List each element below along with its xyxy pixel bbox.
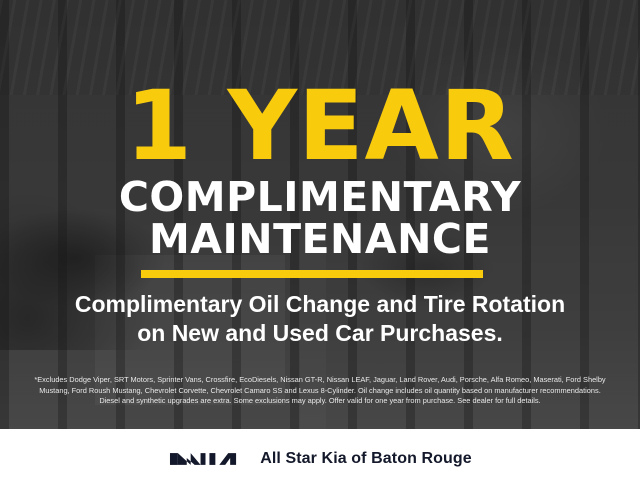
disclaimer-line-1: *Excludes Dodge Viper, SRT Motors, Sprin… <box>14 375 626 386</box>
headline-secondary: COMPLIMENTARY MAINTENANCE <box>0 176 640 260</box>
kia-logo <box>168 448 242 470</box>
disclaimer-text: *Excludes Dodge Viper, SRT Motors, Sprin… <box>14 375 626 407</box>
disclaimer-line-2: Mustang, Ford Roush Mustang, Chevrolet C… <box>14 386 626 397</box>
disclaimer-line-3: Diesel and synthetic upgrades are extra.… <box>14 396 626 407</box>
dealer-name: All Star Kia of Baton Rouge <box>260 450 472 468</box>
promotional-banner: 1 YEAR COMPLIMENTARY MAINTENANCE Complim… <box>0 0 640 488</box>
headline-secondary-line-2: MAINTENANCE <box>0 218 640 260</box>
footer-bar: All Star Kia of Baton Rouge <box>0 429 640 488</box>
yellow-divider-rule <box>141 270 483 278</box>
hero-content: 1 YEAR COMPLIMENTARY MAINTENANCE Complim… <box>0 0 640 429</box>
offer-description: Complimentary Oil Change and Tire Rotati… <box>0 290 640 348</box>
headline-secondary-line-1: COMPLIMENTARY <box>0 176 640 218</box>
headline-primary: 1 YEAR <box>0 78 640 174</box>
offer-description-line-1: Complimentary Oil Change and Tire Rotati… <box>0 290 640 319</box>
offer-description-line-2: on New and Used Car Purchases. <box>0 319 640 348</box>
hero-section: 1 YEAR COMPLIMENTARY MAINTENANCE Complim… <box>0 0 640 429</box>
